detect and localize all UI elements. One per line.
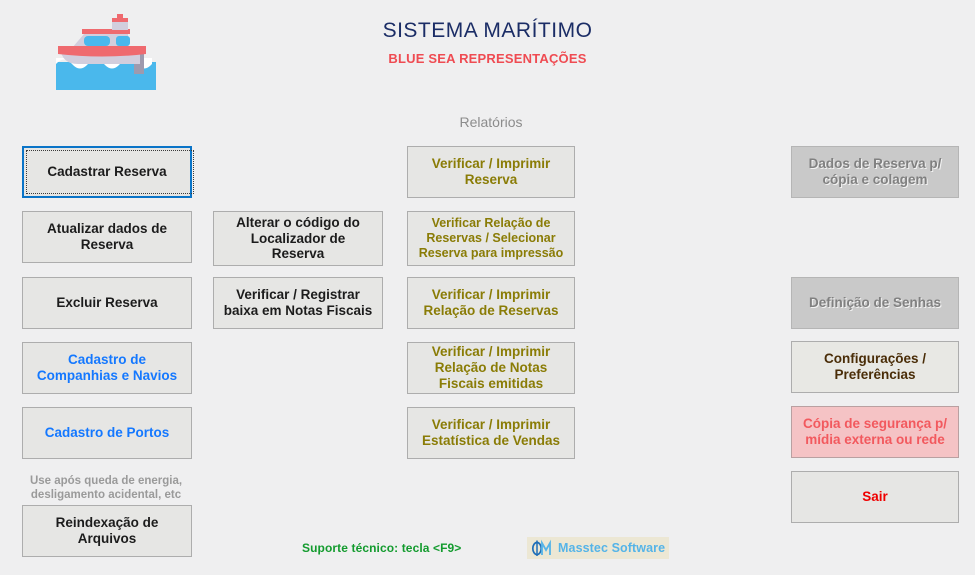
button-label: Cópia de segurança p/ mídia externa ou r… xyxy=(796,416,954,448)
atualizar-dados-reserva-button[interactable]: Atualizar dados de Reserva xyxy=(22,211,192,263)
alterar-codigo-localizador-button[interactable]: Alterar o código do Localizador de Reser… xyxy=(213,211,383,266)
reindex-caption: Use após queda de energia, desligamento … xyxy=(18,474,194,502)
button-label: Verificar / Imprimir Reserva xyxy=(412,156,570,188)
button-label: Dados de Reserva p/ cópia e colagem xyxy=(796,156,954,188)
verificar-imprimir-relacao-reservas-button[interactable]: Verificar / Imprimir Relação de Reservas xyxy=(407,277,575,329)
button-label: Verificar / Imprimir Relação de Reservas xyxy=(412,287,570,319)
button-label: Alterar o código do Localizador de Reser… xyxy=(218,215,378,263)
cadastro-companhias-navios-button[interactable]: Cadastro de Companhias e Navios xyxy=(22,342,192,394)
copia-seguranca-button[interactable]: Cópia de segurança p/ mídia externa ou r… xyxy=(791,406,959,458)
button-label: Cadastro de Companhias e Navios xyxy=(27,352,187,384)
dados-reserva-copia-colagem-button[interactable]: Dados de Reserva p/ cópia e colagem xyxy=(791,146,959,198)
cadastro-portos-button[interactable]: Cadastro de Portos xyxy=(22,407,192,459)
button-label: Definição de Senhas xyxy=(796,295,954,311)
vendor-name: Masstec Software xyxy=(558,541,665,555)
masstec-monogram-icon xyxy=(531,539,553,557)
reindexacao-arquivos-button[interactable]: Reindexação de Arquivos xyxy=(22,505,192,557)
button-label: Verificar Relação de Reservas / Selecion… xyxy=(412,216,570,260)
button-label: Configurações / Preferências xyxy=(796,351,954,383)
excluir-reserva-button[interactable]: Excluir Reserva xyxy=(22,277,192,329)
button-label: Verificar / Imprimir Relação de Notas Fi… xyxy=(412,344,570,392)
verificar-imprimir-relacao-notas-fiscais-button[interactable]: Verificar / Imprimir Relação de Notas Fi… xyxy=(407,342,575,394)
button-label: Verificar / Registrar baixa em Notas Fis… xyxy=(218,287,378,319)
button-label: Excluir Reserva xyxy=(27,295,187,311)
verificar-imprimir-estatistica-vendas-button[interactable]: Verificar / Imprimir Estatística de Vend… xyxy=(407,407,575,459)
configuracoes-preferencias-button[interactable]: Configurações / Preferências xyxy=(791,341,959,393)
button-label: Verificar / Imprimir Estatística de Vend… xyxy=(412,417,570,449)
verificar-relacao-reservas-selecionar-button[interactable]: Verificar Relação de Reservas / Selecion… xyxy=(407,211,575,266)
button-label: Reindexação de Arquivos xyxy=(27,515,187,547)
support-hint: Suporte técnico: tecla <F9> xyxy=(302,541,461,555)
page-title: SISTEMA MARÍTIMO xyxy=(0,19,975,43)
button-label: Sair xyxy=(796,489,954,505)
button-label: Cadastro de Portos xyxy=(27,425,187,441)
cadastrar-reserva-button[interactable]: Cadastrar Reserva xyxy=(22,146,192,198)
company-subtitle: BLUE SEA REPRESENTAÇÕES xyxy=(0,51,975,66)
definicao-senhas-button[interactable]: Definição de Senhas xyxy=(791,277,959,329)
verificar-registrar-baixa-notas-fiscais-button[interactable]: Verificar / Registrar baixa em Notas Fis… xyxy=(213,277,383,329)
reports-section-heading: Relatórios xyxy=(407,114,575,130)
vendor-logo: Masstec Software xyxy=(527,537,669,559)
sair-button[interactable]: Sair xyxy=(791,471,959,523)
verificar-imprimir-reserva-button[interactable]: Verificar / Imprimir Reserva xyxy=(407,146,575,198)
button-label: Cadastrar Reserva xyxy=(28,164,186,180)
button-label: Atualizar dados de Reserva xyxy=(27,221,187,253)
